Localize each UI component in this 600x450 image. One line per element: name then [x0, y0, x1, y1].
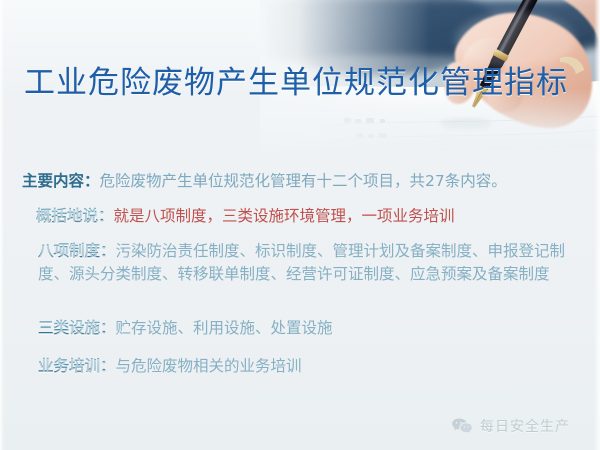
content-label: 三类设施： — [38, 319, 116, 337]
content-label: 八项制度： — [38, 242, 116, 260]
content-line-eight-systems: 八项制度：污染防治责任制度、标识制度、管理计划及备案制度、申报登记制度、源头分类… — [38, 240, 578, 286]
content-line-three-facilities: 三类设施：贮存设施、利用设施、处置设施 — [38, 317, 333, 339]
content-text: 贮存设施、利用设施、处置设施 — [116, 319, 333, 337]
page-title: 工业危险废物产生单位规范化管理指标 — [24, 63, 568, 103]
presentation-slide: 工业危险废物产生单位规范化管理指标 主要内容：危险废物产生单位规范化管理有十二个… — [0, 0, 600, 450]
watermark-text: 每日安全生产 — [480, 416, 570, 436]
content-label: 业务培训： — [38, 357, 116, 375]
content-line-training: 业务培训：与危险废物相关的业务培训 — [38, 355, 302, 377]
content-text: 污染防治责任制度、标识制度、管理计划及备案制度、申报登记制度、源头分类制度、转移… — [38, 242, 565, 283]
content-line-main: 主要内容：危险废物产生单位规范化管理有十二个项目，共27条内容。 — [22, 170, 507, 192]
content-text: 危险废物产生单位规范化管理有十二个项目，共27条内容。 — [100, 172, 507, 190]
watermark: 每日安全生产 — [451, 416, 570, 436]
content-line-summary: 概括地说：就是八项制度，三类设施环境管理，一项业务培训 — [36, 205, 455, 227]
content-label: 主要内容： — [22, 172, 100, 190]
wechat-icon — [451, 417, 473, 435]
content-text: 与危险废物相关的业务培训 — [116, 357, 302, 375]
content-label: 概括地说： — [36, 207, 114, 225]
content-text: 就是八项制度，三类设施环境管理，一项业务培训 — [114, 207, 455, 225]
